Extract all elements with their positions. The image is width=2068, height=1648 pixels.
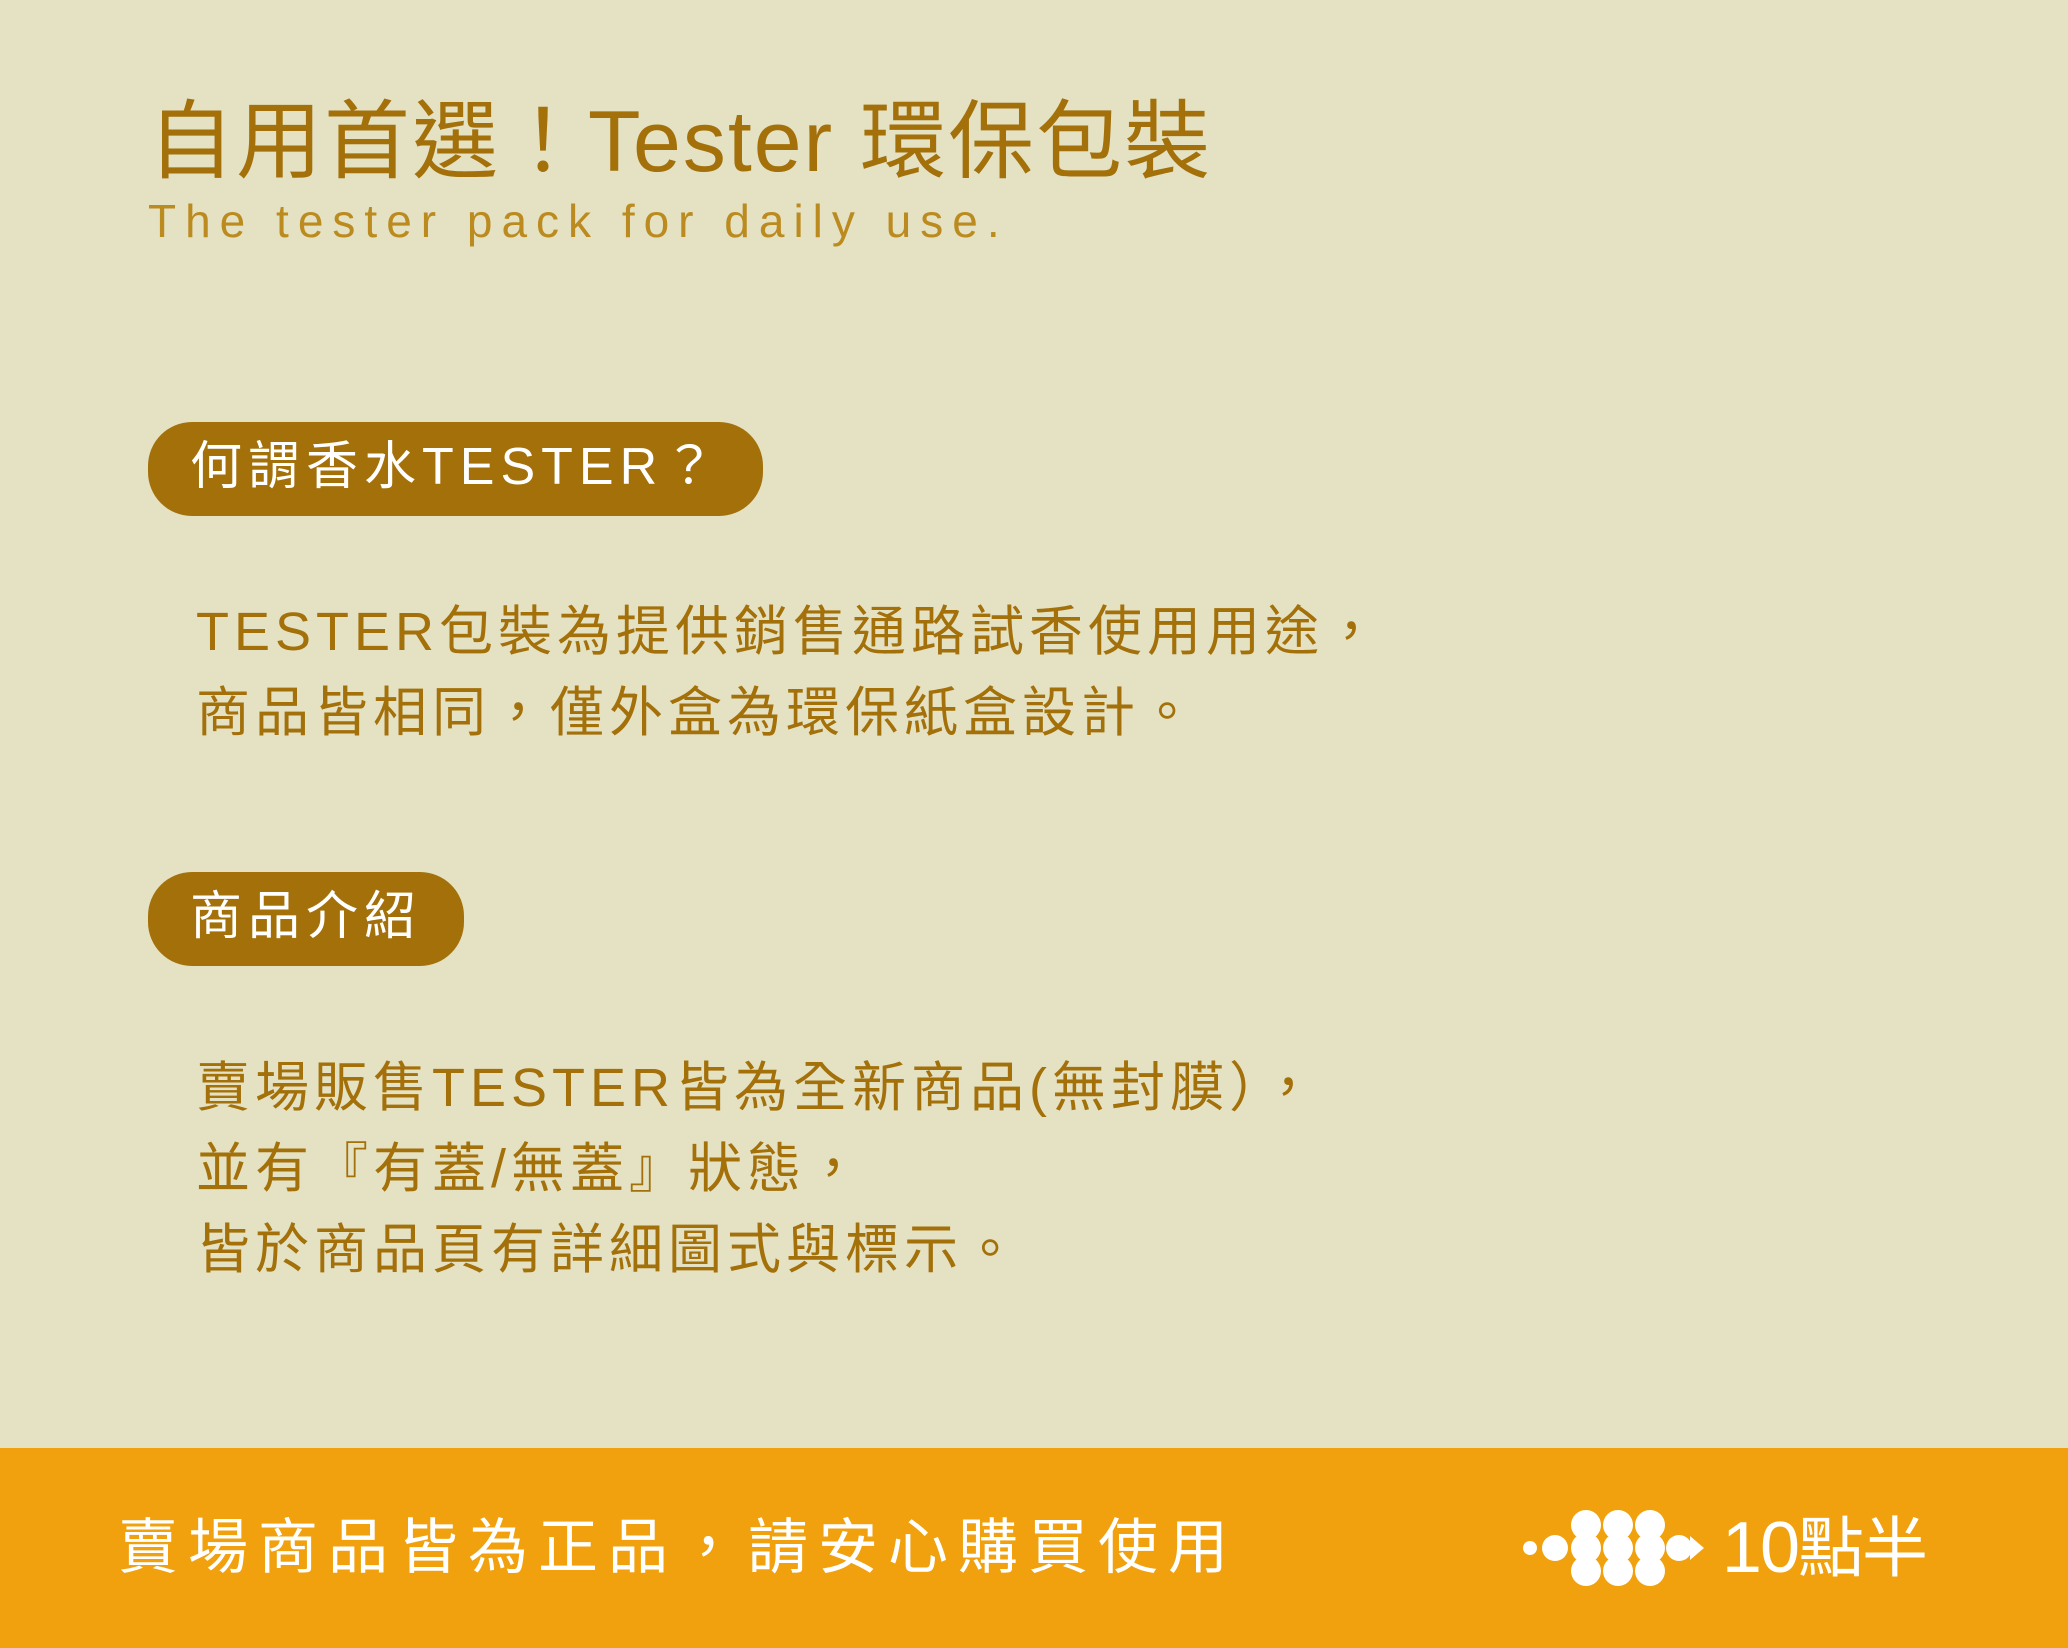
body-line: 並有『有蓋/無蓋』狀態，	[196, 1129, 1320, 1210]
body-line: 商品皆相同，僅外盒為環保紙盒設計。	[196, 673, 1383, 754]
brand-name: 點半	[1798, 1515, 1926, 1581]
brand-logo: 10 點半	[1522, 1500, 1926, 1596]
brand-number: 10	[1722, 1512, 1798, 1584]
dot-matrix-icon	[1522, 1500, 1712, 1596]
header: 自用首選！Tester 環保包裝 The tester pack for dai…	[148, 96, 1948, 248]
footer-bar: 賣場商品皆為正品，請安心購買使用 10 點半	[0, 1448, 2068, 1648]
body-line: 賣場販售TESTER皆為全新商品(無封膜），	[196, 1048, 1320, 1129]
promo-banner: 自用首選！Tester 環保包裝 The tester pack for dai…	[0, 0, 2068, 1648]
footer-assurance-text: 賣場商品皆為正品，請安心購買使用	[118, 1515, 1238, 1581]
section-badge-what-is-tester: 何謂香水TESTER？	[148, 422, 763, 516]
section-body-product-intro: 賣場販售TESTER皆為全新商品(無封膜）， 並有『有蓋/無蓋』狀態， 皆於商品…	[196, 1048, 1320, 1291]
section-badge-product-intro-wrap: 商品介紹	[148, 872, 464, 966]
section-body-what-is-tester: TESTER包裝為提供銷售通路試香使用用途， 商品皆相同，僅外盒為環保紙盒設計。	[196, 592, 1383, 754]
page-title: 自用首選！Tester 環保包裝	[148, 96, 1948, 189]
section-badge-what-is-tester-wrap: 何謂香水TESTER？	[148, 422, 763, 516]
body-line: TESTER包裝為提供銷售通路試香使用用途，	[196, 592, 1383, 673]
section-badge-product-intro: 商品介紹	[148, 872, 464, 966]
brand-wordmark: 10 點半	[1722, 1512, 1926, 1584]
page-subtitle: The tester pack for daily use.	[148, 195, 1948, 248]
body-line: 皆於商品頁有詳細圖式與標示。	[196, 1210, 1320, 1291]
